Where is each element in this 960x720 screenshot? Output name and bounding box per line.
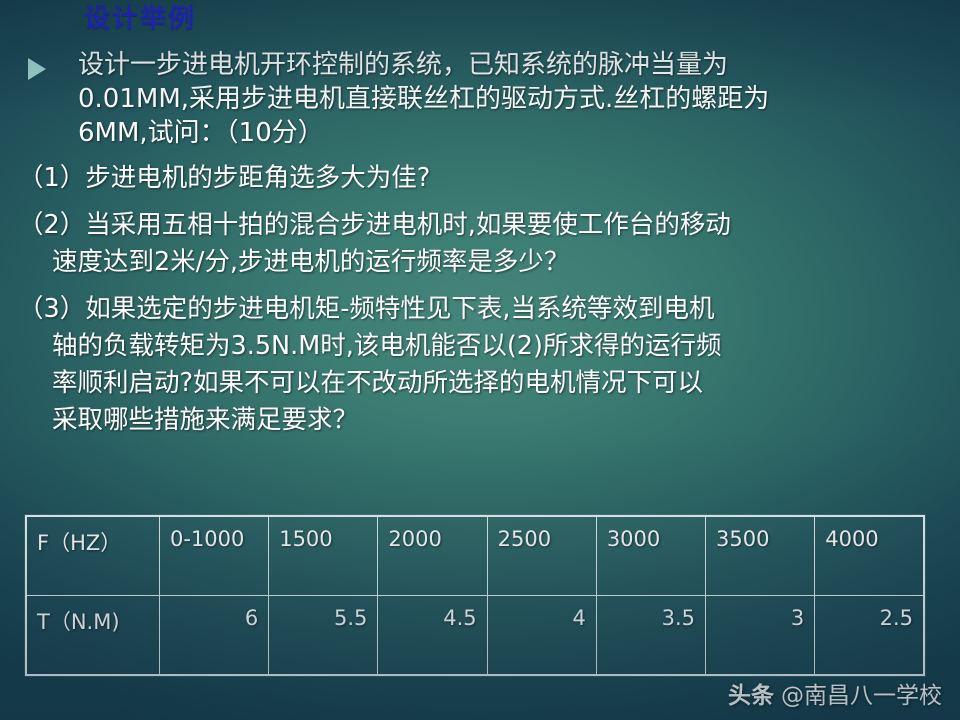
watermark: 头条 @南昌八一学校	[728, 676, 942, 710]
table-cell: 4	[487, 596, 596, 676]
table-cell: 1500	[269, 516, 378, 596]
presentation-slide: 设计举例 设计一步进电机开环控制的系统，已知系统的脉冲当量为 0.01MM,采用…	[0, 0, 960, 720]
table-cell: 4.5	[378, 596, 487, 676]
table-cell: 5.5	[269, 596, 378, 676]
table-row: F（HZ） 0-1000 1500 2000 2500 3000 3500 40…	[26, 516, 924, 596]
table-cell: 3000	[596, 516, 705, 596]
main-bullet-text: 设计一步进电机开环控制的系统，已知系统的脉冲当量为 0.01MM,采用步进电机直…	[78, 48, 948, 150]
row-header-torque: T（N.M)	[26, 596, 160, 676]
table-cell: 2500	[487, 516, 596, 596]
table-cell: 2000	[378, 516, 487, 596]
table-cell: 3.5	[596, 596, 705, 676]
spec-table-container: F（HZ） 0-1000 1500 2000 2500 3000 3500 40…	[25, 515, 925, 676]
table-cell: 3500	[706, 516, 815, 596]
table-cell: 6	[160, 596, 269, 676]
table-row: T（N.M) 6 5.5 4.5 4 3.5 3 2.5	[26, 596, 924, 676]
slide-body: 设计一步进电机开环控制的系统，已知系统的脉冲当量为 0.01MM,采用步进电机直…	[0, 48, 960, 439]
table-cell: 4000	[815, 516, 924, 596]
table-cell: 2.5	[815, 596, 924, 676]
main-bullet-item: 设计一步进电机开环控制的系统，已知系统的脉冲当量为 0.01MM,采用步进电机直…	[0, 48, 960, 150]
row-header-frequency: F（HZ）	[26, 516, 160, 596]
watermark-brand: 头条	[728, 676, 774, 710]
table-cell: 3	[706, 596, 815, 676]
table-cell: 0-1000	[160, 516, 269, 596]
question-item-1: （1）步进电机的步距角选多大为佳?	[0, 160, 960, 197]
watermark-handle: @南昌八一学校	[781, 676, 942, 710]
question-item-2: （2）当采用五相十拍的混合步进电机时,如果要使工作台的移动 速度达到2米/分,步…	[0, 207, 960, 281]
torque-frequency-table: F（HZ） 0-1000 1500 2000 2500 3000 3500 40…	[25, 515, 925, 676]
question-item-3: （3）如果选定的步进电机矩-频特性见下表,当系统等效到电机 轴的负载转矩为3.5…	[0, 291, 960, 439]
triangle-right-bullet-icon	[28, 58, 46, 80]
page-title: 设计举例	[84, 2, 196, 37]
